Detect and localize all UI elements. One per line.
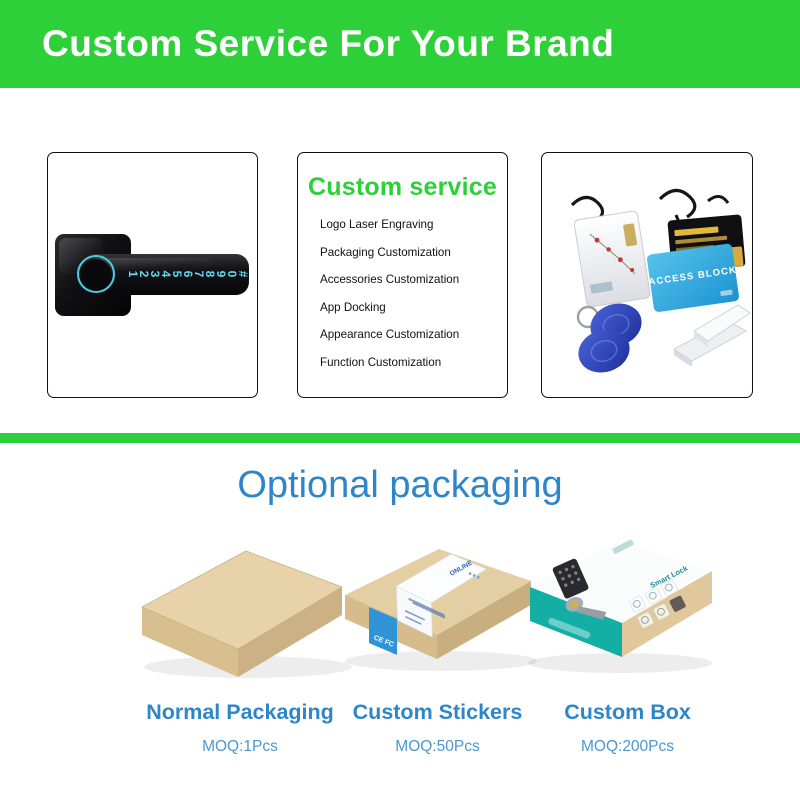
- list-item: App Docking: [320, 301, 507, 314]
- custom-box-image: Smart Lock: [520, 525, 725, 685]
- list-item: Logo Laser Engraving: [320, 218, 507, 231]
- product-marketing-page: Custom Service For Your Brand: [0, 0, 800, 800]
- packaging-section-title: Optional packaging: [0, 464, 800, 507]
- packaging-label-stickers: Custom Stickers MOQ:50Pcs: [335, 700, 540, 756]
- list-item: Accessories Customization: [320, 273, 507, 286]
- packaging-options-row: ONLINE CE FC: [0, 525, 800, 705]
- feature-panels-row: 1 2 3 4 5 6 7 8 9 0 # Custom se: [0, 152, 800, 398]
- list-item: Packaging Customization: [320, 246, 507, 259]
- packaging-option-normal: [128, 525, 358, 685]
- normal-packaging-image: [128, 525, 358, 685]
- packaging-name: Custom Box: [530, 700, 725, 725]
- list-item: Function Customization: [320, 356, 507, 369]
- packaging-label-normal: Normal Packaging MOQ:1Pcs: [120, 700, 360, 756]
- custom-stickers-image: ONLINE CE FC: [335, 525, 545, 685]
- custom-service-list: Logo Laser Engraving Packaging Customiza…: [298, 218, 507, 369]
- packaging-option-custom-box: Smart Lock: [520, 525, 725, 685]
- smart-lock-illustration: 1 2 3 4 5 6 7 8 9 0 #: [48, 153, 257, 397]
- list-item: Appearance Customization: [320, 328, 507, 341]
- packaging-label-custom-box: Custom Box MOQ:200Pcs: [530, 700, 725, 756]
- svg-text:#: #: [236, 271, 250, 278]
- header-banner: Custom Service For Your Brand: [0, 0, 800, 88]
- packaging-moq: MOQ:200Pcs: [530, 738, 725, 756]
- packaging-option-stickers: ONLINE CE FC: [335, 525, 545, 685]
- smart-lock-icon: 1 2 3 4 5 6 7 8 9 0 #: [48, 153, 256, 396]
- rfid-accessories-icon: ACCESS BLOCK: [542, 153, 751, 396]
- packaging-name: Normal Packaging: [120, 700, 360, 725]
- packaging-moq: MOQ:50Pcs: [335, 738, 540, 756]
- panel-custom-service: Custom service Logo Laser Engraving Pack…: [297, 152, 508, 398]
- packaging-name: Custom Stickers: [335, 700, 540, 725]
- panel-smart-lock: 1 2 3 4 5 6 7 8 9 0 #: [47, 152, 258, 398]
- section-divider: [0, 433, 800, 443]
- sticker-box-icon: ONLINE CE FC: [335, 525, 545, 685]
- page-title: Custom Service For Your Brand: [0, 23, 614, 65]
- retail-box-icon: Smart Lock: [520, 525, 725, 685]
- panel-accessories: ACCESS BLOCK: [541, 152, 753, 398]
- custom-service-heading: Custom service: [298, 173, 507, 202]
- kraft-box-icon: [128, 525, 358, 685]
- packaging-moq: MOQ:1Pcs: [120, 738, 360, 756]
